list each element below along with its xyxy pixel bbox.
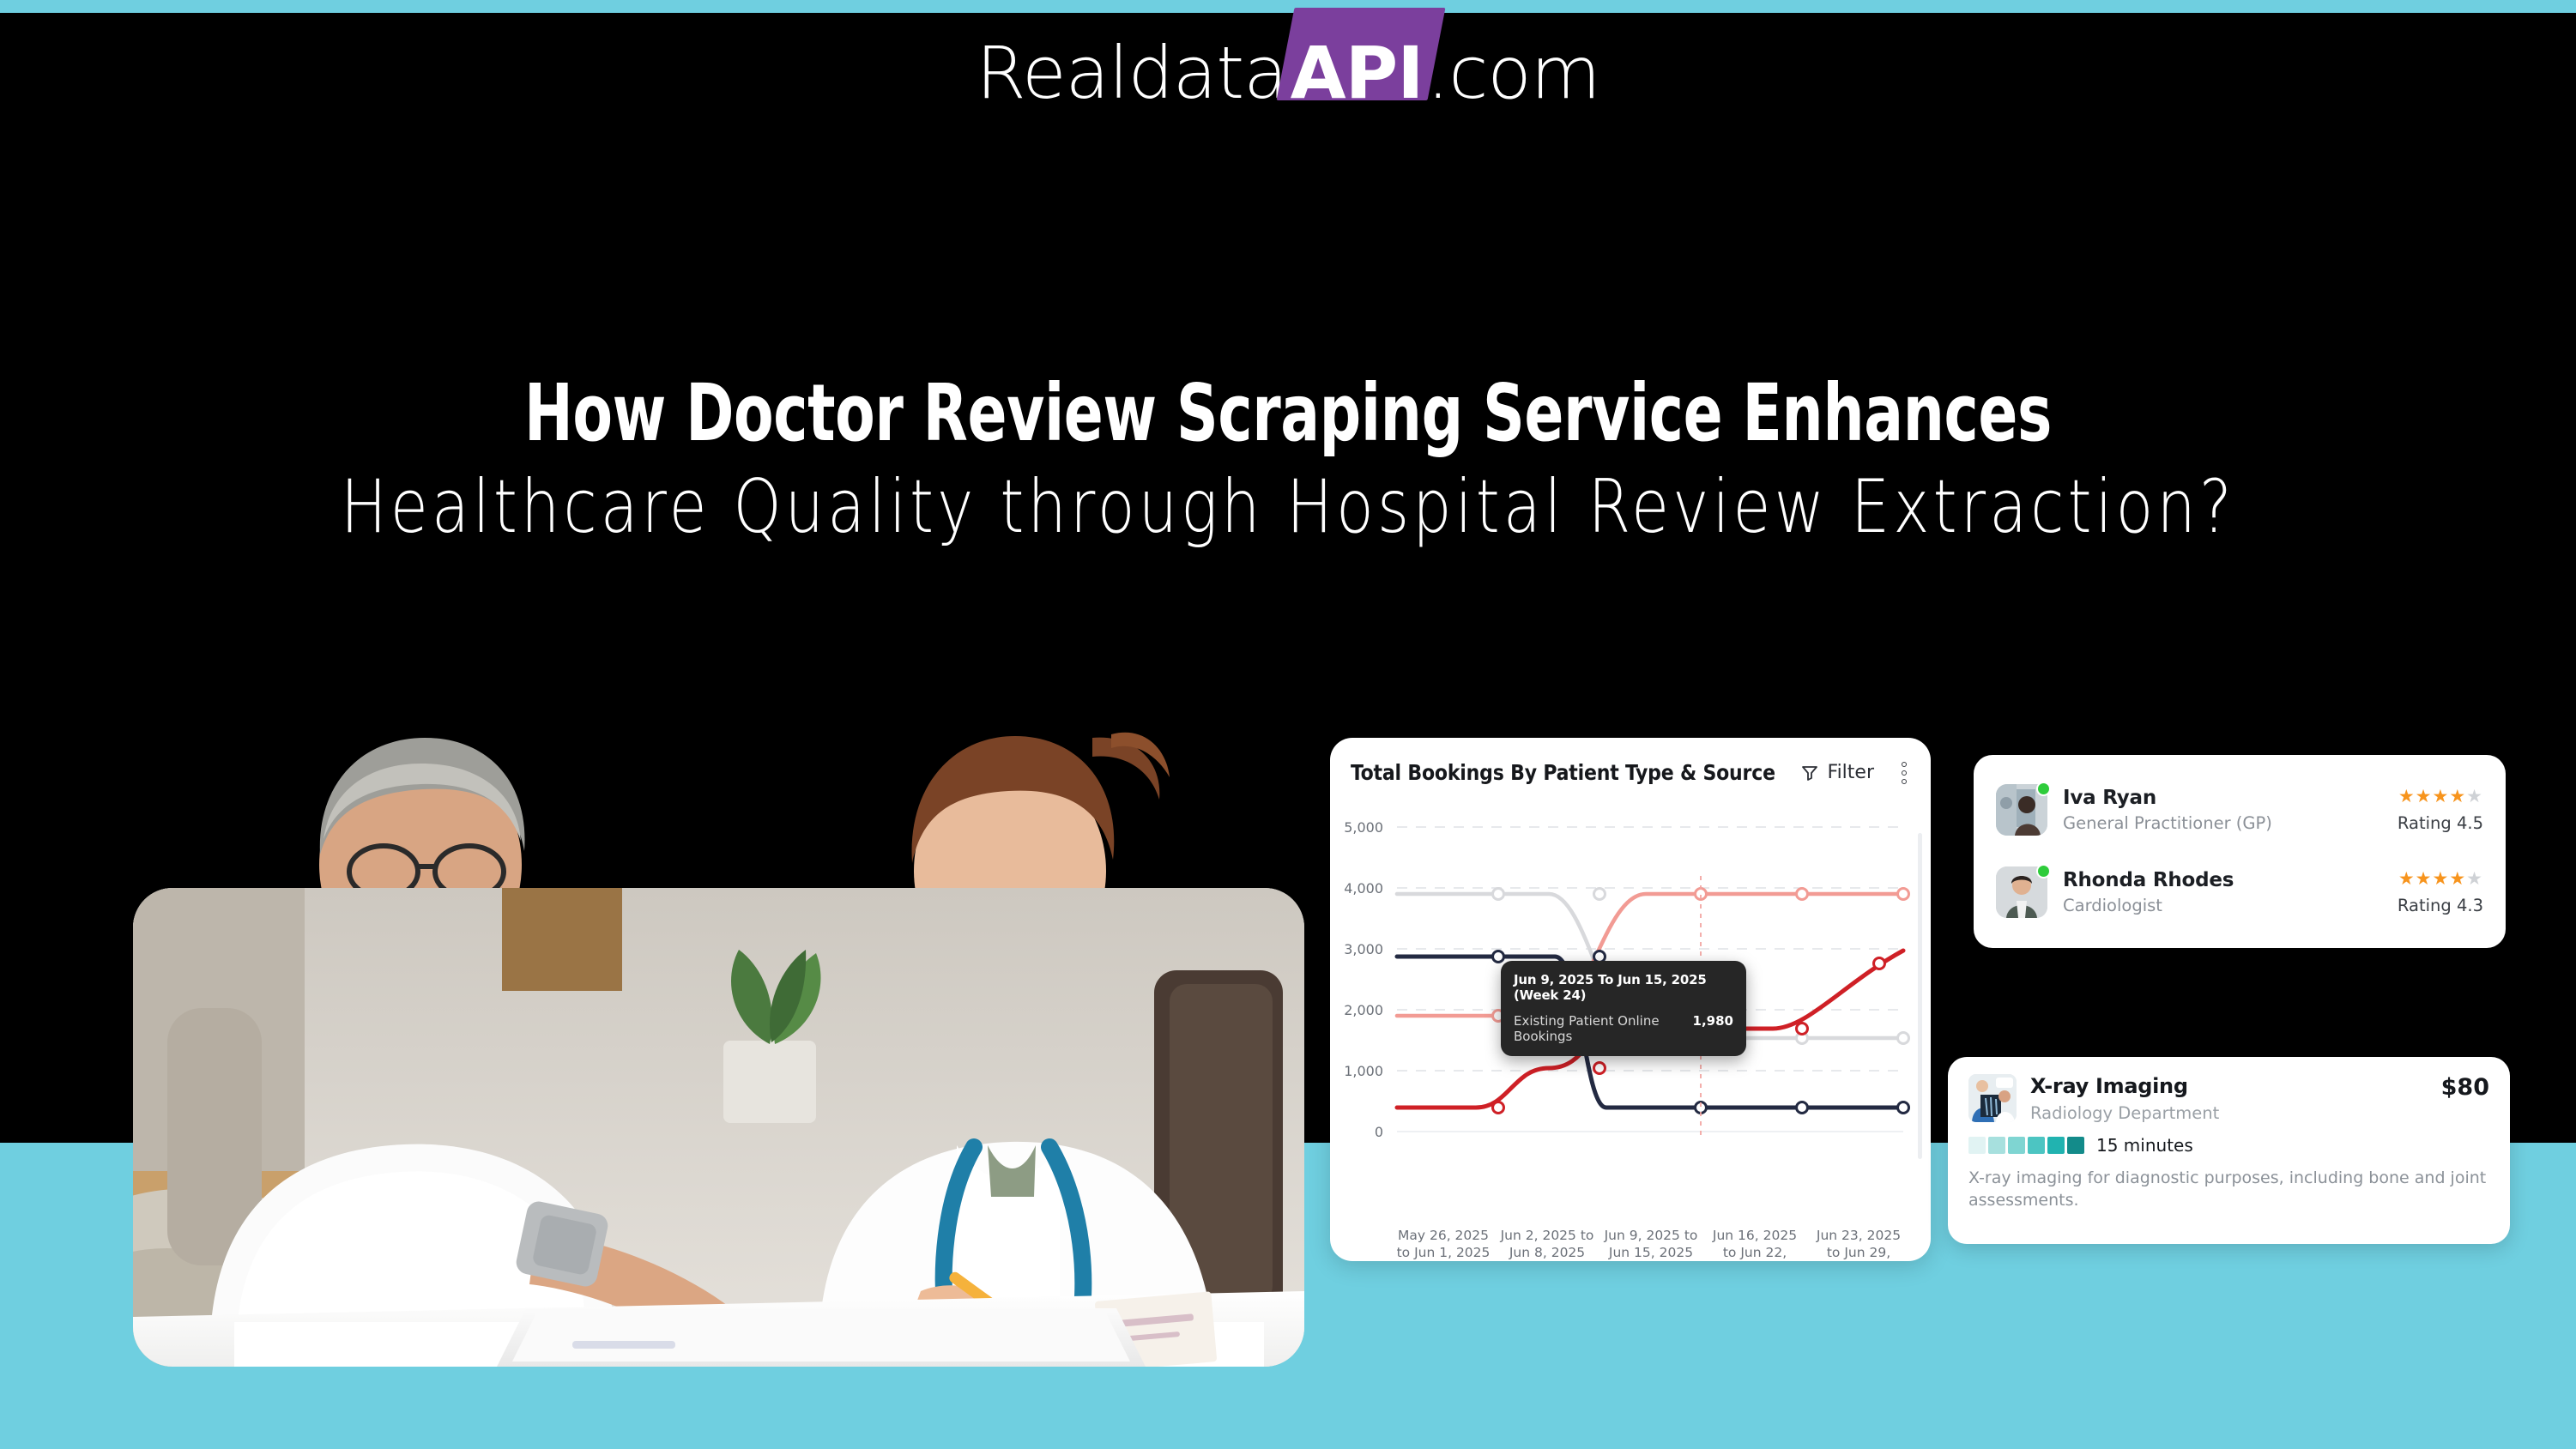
doctor-rating: ★★★★★ Rating 4.5 — [2398, 788, 2483, 833]
online-status-dot — [2036, 864, 2051, 878]
svg-text:5,000: 5,000 — [1344, 819, 1383, 836]
photo-top-illustration — [133, 703, 1304, 892]
chart-tooltip: Jun 9, 2025 To Jun 15, 2025 (Week 24) Ex… — [1501, 961, 1746, 1056]
brand-logo[interactable]: RealdataAPI.com — [0, 26, 2576, 120]
svg-text:4,000: 4,000 — [1344, 880, 1383, 897]
chart-title: Total Bookings By Patient Type & Source — [1351, 760, 1791, 785]
x-label: Jun 9, 2025 to Jun 15, 2025 (Week 24) — [1603, 1227, 1699, 1261]
xray-photo-icon — [1968, 1074, 2017, 1122]
headline-line-2: Healthcare Quality through Hospital Revi… — [219, 464, 2357, 551]
filter-button[interactable]: Filter — [1799, 762, 1874, 783]
avatar — [1996, 866, 2047, 918]
avatar — [1996, 784, 2047, 836]
doctor-specialty: General Practitioner (GP) — [2063, 813, 2382, 833]
tooltip-series-label: Existing Patient Online Bookings — [1514, 1013, 1683, 1044]
headline-line-1: How Doctor Review Scraping Service Enhan… — [232, 369, 2344, 457]
svg-text:3,000: 3,000 — [1344, 941, 1383, 957]
doctor-info: Iva Ryan General Practitioner (GP) — [2063, 787, 2382, 833]
service-name: X-ray Imaging — [2030, 1074, 2428, 1098]
star-rating-icon: ★★★★★ — [2398, 870, 2483, 888]
hero-photo — [133, 888, 1304, 1367]
filter-label: Filter — [1828, 762, 1874, 783]
doctor-specialty: Cardiologist — [2063, 896, 2382, 915]
x-label: Jun 23, 2025 to Jun 29, 2025 (Week 26) — [1811, 1227, 1907, 1261]
chart-header: Total Bookings By Patient Type & Source … — [1330, 738, 1931, 785]
doctor-name: Rhonda Rhodes — [2063, 869, 2382, 891]
x-label: Jun 16, 2025 to Jun 22, 2025 (Week 25) — [1707, 1227, 1803, 1261]
online-status-dot — [2036, 782, 2051, 796]
x-label: Jun 2, 2025 to Jun 8, 2025 (Week 23) — [1499, 1227, 1595, 1261]
logo-prefix-text: Realdata — [976, 37, 1286, 109]
service-price: $80 — [2441, 1074, 2489, 1101]
service-titles: X-ray Imaging Radiology Department — [2030, 1074, 2428, 1123]
rating-label: Rating 4.5 — [2398, 813, 2483, 833]
tooltip-row: Existing Patient Online Bookings 1,980 — [1514, 1013, 1733, 1044]
page-title: How Doctor Review Scraping Service Enhan… — [0, 369, 2576, 552]
svg-text:1,000: 1,000 — [1344, 1063, 1383, 1079]
duration-swatch-bar — [1968, 1137, 2084, 1154]
star-rating-icon: ★★★★★ — [2398, 788, 2483, 806]
tooltip-title: Jun 9, 2025 To Jun 15, 2025 (Week 24) — [1514, 972, 1733, 1003]
top-accent-band — [0, 0, 2576, 13]
doctor-info: Rhonda Rhodes Cardiologist — [2063, 869, 2382, 915]
duration-label: 15 minutes — [2096, 1135, 2193, 1156]
logo-accent-text: API — [1291, 31, 1424, 115]
kebab-menu-icon[interactable] — [1902, 762, 1907, 784]
svg-text:0: 0 — [1375, 1124, 1383, 1140]
chart-x-axis-labels: May 26, 2025 to Jun 1, 2025 (Week 22) Ju… — [1395, 1227, 1907, 1261]
funnel-icon — [1799, 763, 1820, 783]
doctor-row[interactable]: Iva Ryan General Practitioner (GP) ★★★★★… — [1996, 774, 2483, 846]
doctors-list-card: Iva Ryan General Practitioner (GP) ★★★★★… — [1974, 755, 2506, 948]
doctor-name: Iva Ryan — [2063, 787, 2382, 809]
consultation-photo — [133, 888, 1304, 1367]
doctor-rating: ★★★★★ Rating 4.3 — [2398, 870, 2483, 915]
service-thumbnail — [1968, 1074, 2017, 1122]
tooltip-value: 1,980 — [1693, 1013, 1733, 1029]
service-department: Radiology Department — [2030, 1103, 2428, 1123]
doctor-row[interactable]: Rhonda Rhodes Cardiologist ★★★★★ Rating … — [1996, 856, 2483, 928]
logo-accent-shape: API — [1287, 37, 1427, 109]
photo-head-bleed — [133, 703, 1304, 892]
rating-label: Rating 4.3 — [2398, 896, 2483, 915]
service-description: X-ray imaging for diagnostic purposes, i… — [1968, 1168, 2489, 1211]
poster-canvas: RealdataAPI.com How Doctor Review Scrapi… — [0, 0, 2576, 1449]
svg-text:2,000: 2,000 — [1344, 1002, 1383, 1018]
x-label: May 26, 2025 to Jun 1, 2025 (Week 22) — [1395, 1227, 1491, 1261]
service-header: X-ray Imaging Radiology Department $80 — [1968, 1074, 2489, 1123]
service-card: X-ray Imaging Radiology Department $80 1… — [1948, 1057, 2510, 1244]
chart-scrollbar[interactable] — [1918, 833, 1922, 1159]
logo-suffix-text: .com — [1427, 37, 1600, 109]
service-duration: 15 minutes — [1968, 1135, 2489, 1156]
